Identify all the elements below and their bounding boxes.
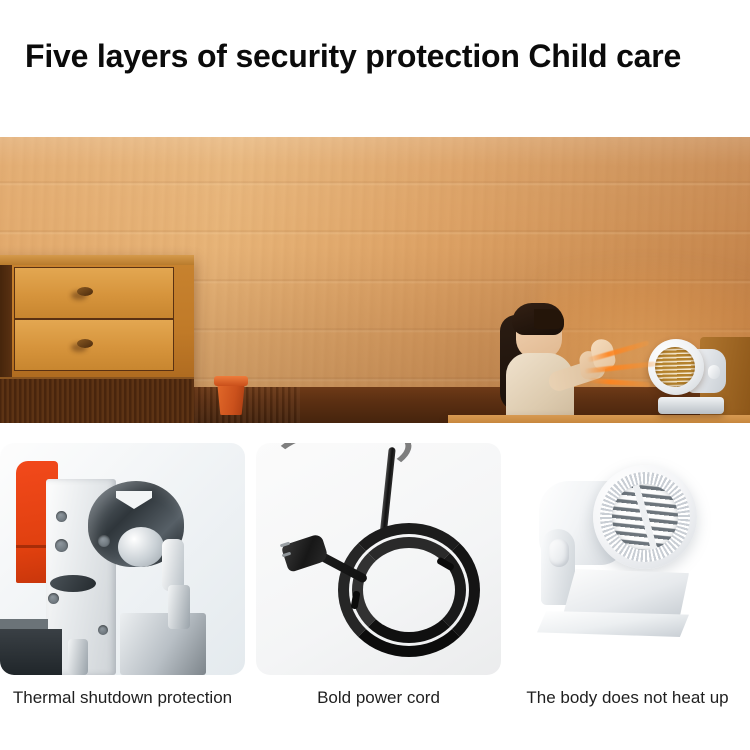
sideboard-body bbox=[0, 255, 194, 395]
sideboard-top bbox=[0, 255, 194, 265]
heater-body-photo bbox=[505, 443, 750, 675]
product-feature-page: Five layers of security protection Child… bbox=[0, 0, 750, 750]
table-fan-heater bbox=[648, 339, 734, 419]
screw-hole-icon bbox=[98, 625, 108, 635]
feature-card-power-cord[interactable]: Bold power cord bbox=[256, 443, 501, 675]
bracket-slot bbox=[50, 575, 96, 592]
screw-hole-icon bbox=[48, 593, 59, 604]
heater-grille-crossbar bbox=[612, 484, 678, 550]
switch-lower-block bbox=[120, 613, 206, 675]
terracotta-pot bbox=[214, 373, 248, 415]
screw-hole-icon bbox=[56, 511, 67, 522]
screw-hole-icon bbox=[55, 539, 68, 552]
heater-knob-icon bbox=[549, 539, 569, 567]
drawer-knob-icon bbox=[77, 287, 93, 296]
sideboard-drawer-lower bbox=[14, 319, 174, 371]
thermal-cutoff-switch-photo bbox=[0, 443, 245, 675]
child-figure bbox=[494, 303, 614, 423]
feature-caption: Bold power cord bbox=[256, 687, 501, 709]
sideboard-drawer-upper bbox=[14, 267, 174, 319]
screw-hole-icon bbox=[98, 535, 110, 547]
sideboard-base bbox=[0, 377, 194, 423]
heater-base bbox=[658, 397, 724, 414]
power-cord-photo bbox=[256, 443, 501, 675]
hero-lifestyle-image bbox=[0, 137, 750, 423]
feature-caption: The body does not heat up bbox=[505, 687, 750, 709]
page-title: Five layers of security protection Child… bbox=[25, 36, 735, 76]
switch-post bbox=[162, 539, 184, 591]
metal-pin bbox=[168, 585, 190, 629]
metal-pin bbox=[68, 639, 88, 675]
heater-knob-icon bbox=[708, 365, 720, 379]
cord-coil-inner bbox=[352, 537, 466, 643]
feature-card-row: Thermal shutdown protection Bold power c… bbox=[0, 443, 750, 750]
switch-cylinder bbox=[118, 527, 164, 567]
sideboard-side-shadow bbox=[0, 265, 12, 377]
pot-body bbox=[217, 381, 245, 415]
dark-strip bbox=[0, 619, 48, 629]
heater-base bbox=[537, 611, 689, 637]
feature-card-thermal-shutdown[interactable]: Thermal shutdown protection bbox=[0, 443, 245, 675]
feature-caption: Thermal shutdown protection bbox=[0, 687, 245, 709]
heater-grille-icon bbox=[655, 347, 695, 387]
dark-strip bbox=[0, 629, 62, 675]
feature-card-cool-body[interactable]: The body does not heat up bbox=[505, 443, 750, 675]
pot-rim bbox=[214, 376, 248, 386]
wooden-sideboard bbox=[0, 255, 194, 423]
child-fringe bbox=[534, 309, 564, 329]
drawer-knob-icon bbox=[77, 339, 93, 348]
